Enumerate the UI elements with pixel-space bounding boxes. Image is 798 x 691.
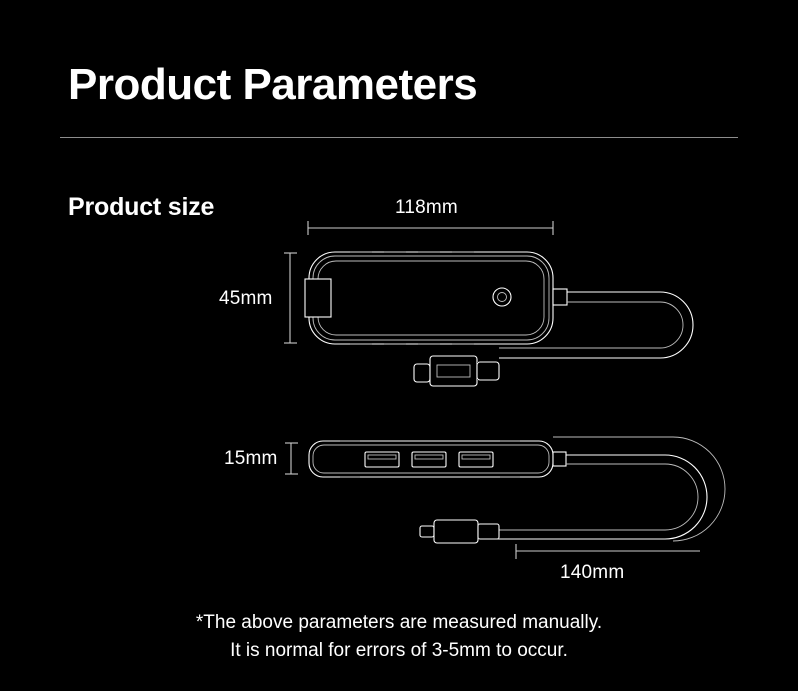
hub-top-view [305,252,693,386]
shell-edge-ticks-side [340,441,520,477]
dimension-label-width-top: 118mm [395,197,458,219]
product-parameters-page: Product Parameters Product size 118mm 45… [0,0,798,691]
footnote-line-2: It is normal for errors of 3-5mm to occu… [0,637,798,665]
dimension-label-cable-length: 140mm [560,562,624,584]
cable-root-side-view [553,452,566,466]
section-subtitle: Product size [68,193,214,222]
dimension-line-width-top [308,221,553,235]
dimension-label-height-top: 45mm [219,288,273,310]
footnote: *The above parameters are measured manua… [0,609,798,665]
hub-side-view [309,437,725,543]
header-divider [60,137,738,138]
left-side-port [305,279,331,317]
dimension-line-height-top [284,253,297,343]
usb-port-3 [459,452,493,467]
cable-top-view [499,292,693,358]
dimension-line-height-side [285,443,298,474]
usb-port-2 [412,452,446,467]
cable-root-top-view [553,289,567,305]
page-title: Product Parameters [68,60,477,109]
shell-edge-ticks [350,252,474,344]
footnote-line-1: *The above parameters are measured manua… [0,609,798,637]
cable-side-view [497,437,725,541]
usb-c-connector-side-view [420,520,499,543]
dimension-line-cable-length [516,544,700,559]
audio-jack-port-icon [493,288,511,306]
dimension-label-height-side: 15mm [224,448,278,470]
usb-c-connector-top-view [414,356,499,386]
usb-port-1 [365,452,399,467]
